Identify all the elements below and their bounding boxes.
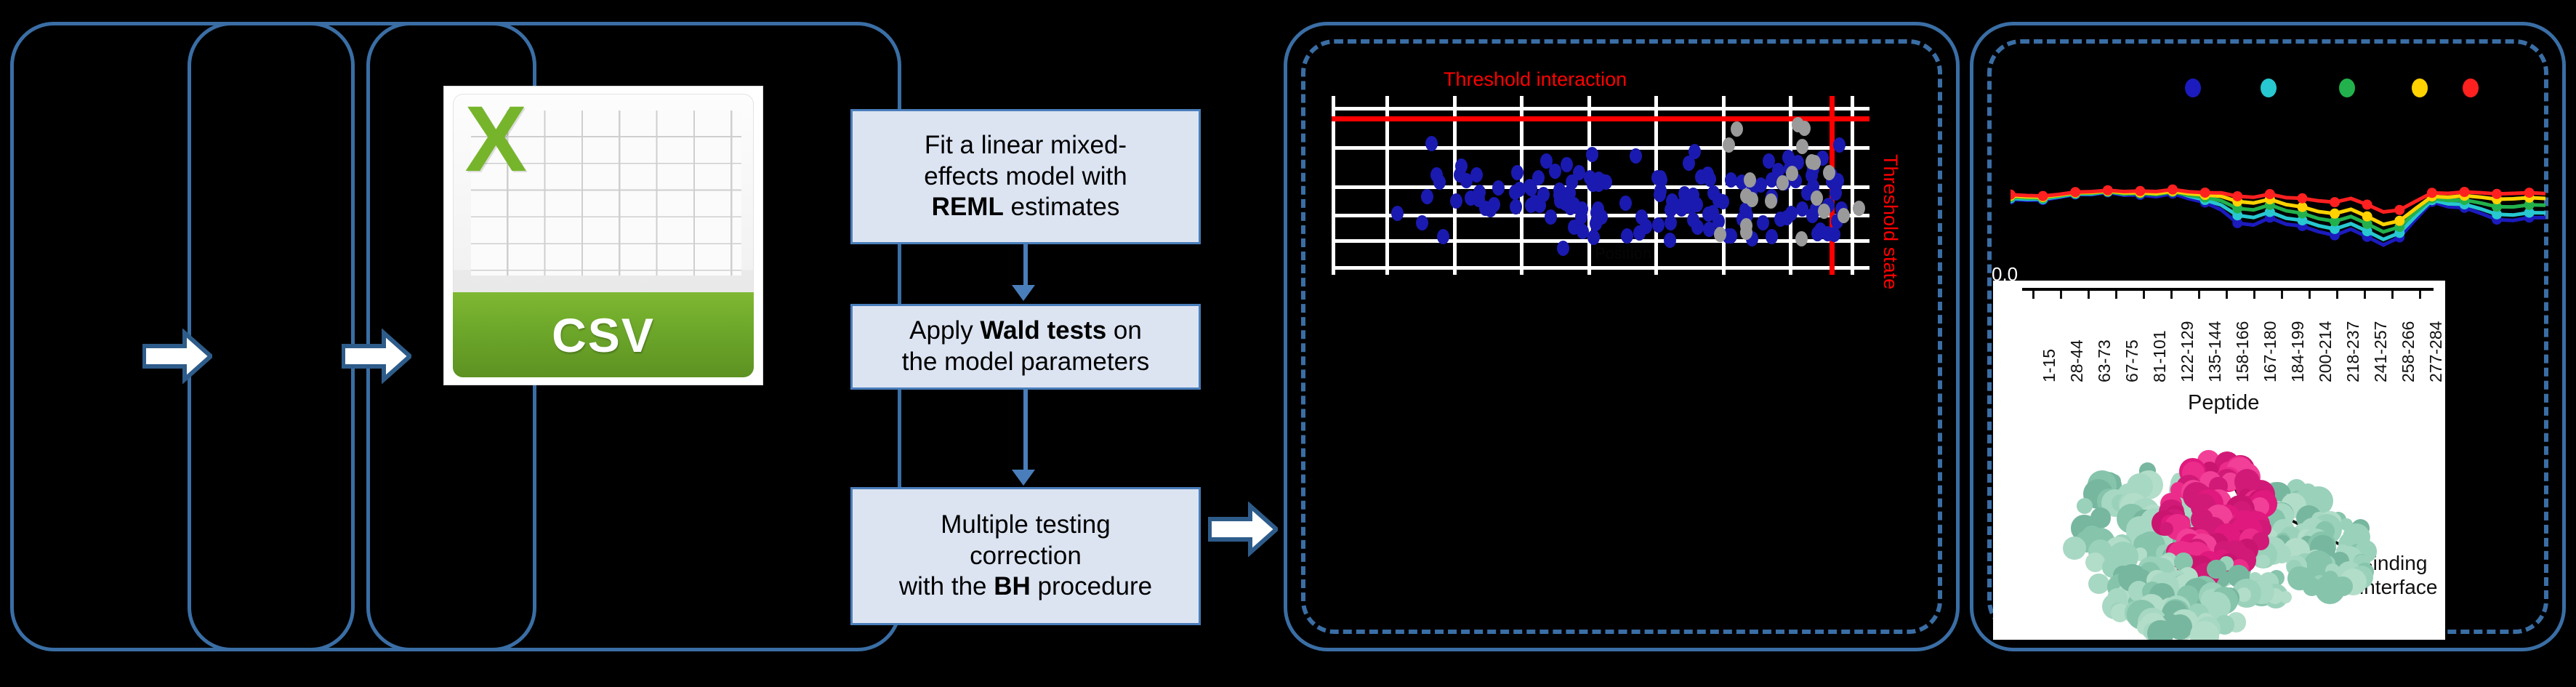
chart-series-marker — [2200, 188, 2210, 198]
scatter-point-significant — [1525, 181, 1537, 196]
peptide-label: 81-101 — [2150, 330, 2170, 382]
scatter-point-significant — [1473, 192, 1485, 207]
scatter-point-significant — [1814, 222, 1827, 238]
peptide-label: 167-180 — [2261, 321, 2280, 382]
scatter-point-significant — [1654, 183, 1667, 198]
peptide-label: 135-144 — [2205, 321, 2225, 382]
scatter-point-non-significant — [1838, 208, 1850, 223]
scatter-faint-axis-text: Position — [1595, 244, 1651, 263]
peptide-label: 158-166 — [2233, 321, 2253, 382]
scatter-point-significant — [1557, 241, 1569, 256]
scatter-point-significant — [1619, 196, 1632, 211]
scatter-gridline-h — [1332, 146, 1869, 150]
scatter-point-non-significant — [1811, 190, 1823, 206]
chart-series-marker — [2394, 205, 2404, 215]
scatter-point-significant — [1587, 230, 1600, 245]
x-axis-tick — [2032, 291, 2034, 299]
scatter-point-significant — [1633, 225, 1646, 241]
connector-arrow-wald-to-bh — [1012, 470, 1035, 486]
chart-series-marker — [2297, 193, 2307, 204]
chart-series-marker — [2524, 188, 2535, 198]
step-box-reml: Fit a linear mixed- effects model with R… — [850, 109, 1201, 244]
peptide-label: 63-73 — [2095, 340, 2114, 382]
x-axis-tick — [2253, 291, 2255, 299]
chart-series-marker — [2070, 187, 2080, 197]
chart-series-marker — [2427, 188, 2437, 198]
scatter-point-significant — [1689, 144, 1701, 159]
chart-series-marker — [2492, 189, 2502, 199]
scatter-point-significant — [1833, 137, 1846, 153]
peptide-label: 67-75 — [2122, 340, 2142, 382]
peptide-label: 258-266 — [2399, 321, 2418, 382]
x-axis-tick — [2364, 291, 2366, 299]
x-axis-tick — [2143, 291, 2145, 299]
step-box-wald: Apply Wald tests on the model parameters — [850, 304, 1201, 390]
scatter-point-significant — [1757, 215, 1769, 230]
scatter-point-significant — [1470, 167, 1483, 182]
scatter-point-significant — [1691, 220, 1704, 235]
step-box-reml-text: Fit a linear mixed- effects model with R… — [924, 130, 1127, 223]
chart-series-marker — [2330, 197, 2340, 207]
scatter-point-significant — [1575, 209, 1587, 225]
protein-structure-image — [2044, 416, 2386, 634]
legend-dot-yellow — [2412, 79, 2428, 97]
scatter-point-significant — [1391, 206, 1404, 221]
scatter-point-significant — [1549, 164, 1561, 179]
panel-model — [366, 22, 901, 651]
connector-wald-to-bh — [1023, 390, 1028, 473]
peptide-label: 184-199 — [2288, 321, 2308, 382]
x-axis-ticks — [2022, 291, 2434, 300]
x-axis-tick — [2088, 291, 2090, 299]
chart-series-marker — [2168, 185, 2178, 195]
scatter-point-non-significant — [1776, 175, 1789, 190]
x-axis-tick — [2170, 291, 2173, 299]
protein-surface-blob — [2315, 574, 2345, 604]
flow-arrow-input-to-csv — [142, 329, 212, 384]
chart-series-marker — [2232, 191, 2242, 201]
chart-series-marker — [2394, 216, 2404, 226]
scatter-point-significant — [1492, 180, 1505, 196]
scatter-point-significant — [1717, 194, 1729, 209]
scatter-point-non-significant — [1714, 227, 1726, 242]
scatter-point-non-significant — [1723, 137, 1735, 153]
x-axis-tick — [2281, 291, 2283, 299]
connector-reml-to-wald — [1023, 244, 1028, 288]
scatter-point-significant — [1586, 147, 1598, 162]
scatter-point-significant — [1593, 177, 1605, 192]
scatter-chart: Threshold interaction Threshold state Po… — [1327, 58, 1923, 582]
scatter-point-significant — [1450, 193, 1462, 209]
peptide-label: 277-284 — [2426, 321, 2445, 382]
scatter-point-non-significant — [1798, 121, 1811, 136]
legend-dot-green — [2339, 79, 2355, 97]
scatter-point-non-significant — [1808, 155, 1821, 170]
peptide-label: 1-15 — [2040, 349, 2059, 382]
threshold-interaction-label: Threshold interaction — [1444, 68, 1627, 91]
scatter-point-non-significant — [1795, 231, 1808, 246]
scatter-point-non-significant — [1740, 225, 1752, 240]
threshold-interaction-line — [1332, 116, 1869, 121]
x-axis-tick — [2309, 291, 2311, 299]
scatter-point-significant — [1421, 189, 1433, 204]
scatter-point-significant — [1702, 206, 1715, 222]
chart-series-marker — [2135, 186, 2145, 196]
ligand-surface-blob — [2160, 522, 2173, 536]
chart-series-marker — [2362, 212, 2372, 222]
x-axis-tick — [2336, 291, 2338, 299]
scatter-gridline-h — [1332, 266, 1869, 270]
step-box-bh-text: Multiple testing correction with the BH … — [899, 510, 1152, 603]
scatter-point-non-significant — [1796, 139, 1808, 154]
scatter-gridline-h — [1332, 239, 1869, 243]
step-box-wald-text: Apply Wald tests on the model parameters — [902, 316, 1149, 377]
step-box-bh: Multiple testing correction with the BH … — [850, 487, 1201, 625]
scatter-point-significant — [1545, 209, 1557, 225]
x-axis-title: Peptide — [2188, 391, 2259, 415]
chart-series-marker — [2297, 202, 2307, 212]
scatter-gridline-h — [1332, 107, 1869, 111]
chart-legend — [1997, 79, 2550, 100]
scatter-point-significant — [1630, 148, 1642, 164]
scatter-point-significant — [1592, 212, 1604, 227]
legend-dot-blue — [2185, 79, 2201, 97]
scatter-point-significant — [1828, 227, 1840, 242]
protein-surface-blob — [2207, 560, 2226, 579]
scatter-point-significant — [1766, 229, 1778, 244]
peptide-figure: 0.0 1-1528-4463-7367-7581-101122-129135-… — [1997, 58, 2550, 640]
chart-series-marker — [2362, 200, 2372, 210]
peptide-label: 122-129 — [2178, 321, 2197, 382]
scatter-point-non-significant — [1853, 201, 1865, 216]
peptide-axis-and-structure-card: 1-1528-4463-7367-7581-101122-129135-1441… — [1993, 281, 2445, 640]
chart-series-marker — [2038, 191, 2048, 201]
protein-surface-blob — [2279, 591, 2292, 603]
scatter-point-significant — [1416, 215, 1428, 230]
legend-dot-red — [2463, 79, 2479, 97]
connector-arrow-reml-to-wald — [1012, 285, 1035, 301]
scatter-point-non-significant — [1731, 121, 1743, 137]
chart-series-marker — [2459, 187, 2469, 197]
peptide-chart-svg — [2011, 180, 2545, 276]
x-axis-tick — [2115, 291, 2117, 299]
peptide-label: 200-214 — [2316, 321, 2335, 382]
peptide-label: 28-44 — [2067, 340, 2087, 382]
pipeline-diagram: X CSV Fit a linear mixed- effects model … — [0, 0, 2576, 687]
x-axis-tick — [2198, 291, 2200, 299]
scatter-point-significant — [1437, 229, 1449, 244]
flow-arrow-csv-to-model — [342, 329, 411, 384]
scatter-point-significant — [1675, 201, 1688, 217]
peptide-line-chart — [2011, 180, 2545, 276]
x-axis-tick — [2391, 291, 2394, 299]
threshold-state-label: Threshold state — [1879, 154, 1901, 289]
chart-series-marker — [2330, 209, 2340, 219]
scatter-point-significant — [1664, 233, 1676, 248]
protein-surface-blob — [2063, 537, 2086, 560]
peptide-label: 218-237 — [2343, 321, 2363, 382]
x-axis-tick — [2226, 291, 2228, 299]
x-axis-tick — [2060, 291, 2062, 299]
scatter-point-significant — [1529, 195, 1541, 210]
legend-dot-cyan — [2261, 79, 2277, 97]
scatter-point-significant — [1568, 197, 1580, 212]
scatter-point-significant — [1652, 217, 1665, 233]
scatter-point-significant — [1433, 174, 1446, 190]
scatter-point-non-significant — [1765, 193, 1777, 209]
protein-surface-blob — [2088, 574, 2109, 594]
scatter-point-significant — [1513, 182, 1526, 197]
chart-series-marker — [2103, 185, 2113, 196]
scatter-point-significant — [1561, 157, 1573, 172]
scatter-point-significant — [1796, 201, 1808, 217]
scatter-point-significant — [1454, 167, 1466, 182]
x-axis-tick — [2419, 291, 2421, 299]
flow-arrow-model-to-scatter — [1208, 502, 1278, 557]
protein-surface-blob — [2077, 498, 2093, 515]
peptide-category-labels: 1-1528-4463-7367-7581-101122-129135-1441… — [2022, 302, 2434, 388]
peptide-label: 241-257 — [2371, 321, 2391, 382]
chart-series-marker — [2265, 189, 2275, 199]
